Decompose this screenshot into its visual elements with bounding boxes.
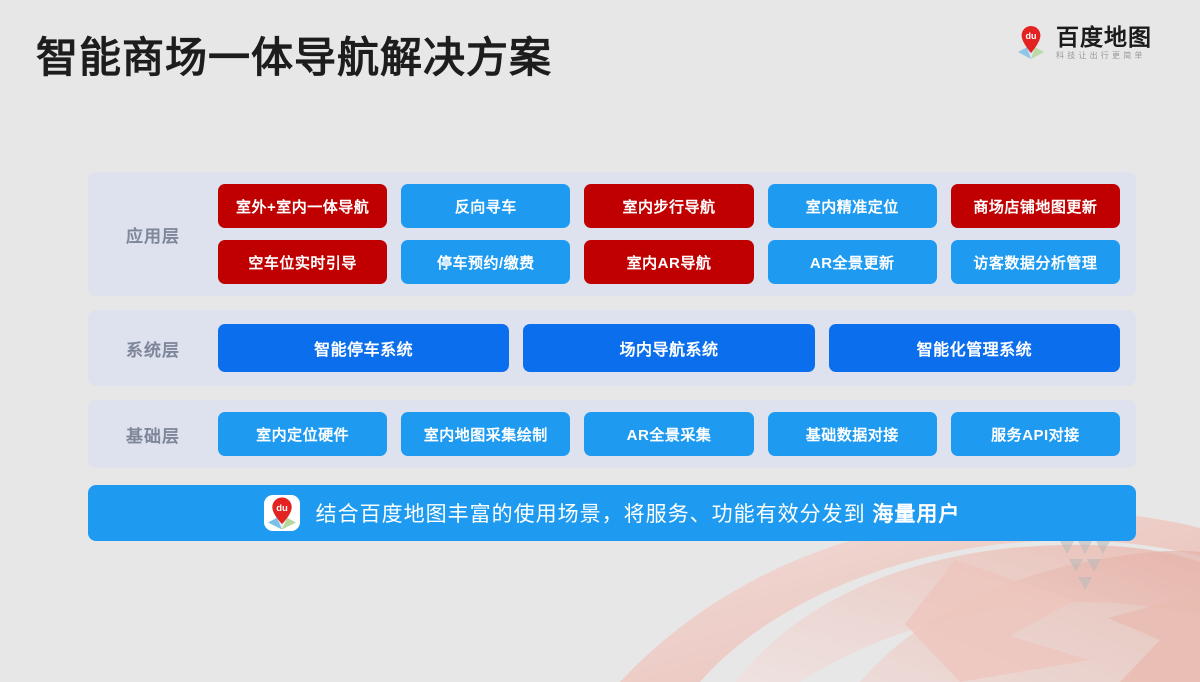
chip-empty-space-guidance[interactable]: 空车位实时引导 [218,240,387,284]
chip-mall-shop-map-update[interactable]: 商场店铺地图更新 [951,184,1120,228]
layer-label-application: 应用层 [88,222,218,247]
layer-application: 应用层 室外+室内一体导航 反向寻车 室内步行导航 室内精准定位 商场店铺地图更… [88,172,1136,296]
layer-row: 智能停车系统 场内导航系统 智能化管理系统 [218,324,1120,372]
layer-row: 空车位实时引导 停车预约/缴费 室内AR导航 AR全景更新 访客数据分析管理 [218,240,1120,284]
baidu-map-app-icon: du [264,495,300,531]
baidu-map-pin-icon: du [1015,25,1047,61]
chip-indoor-map-survey[interactable]: 室内地图采集绘制 [401,412,570,456]
slide-header: 智能商场一体导航解决方案 du 百度地图 科技让出行更简单 [0,0,1200,110]
chip-service-api-integration[interactable]: 服务API对接 [951,412,1120,456]
chip-in-venue-nav-system[interactable]: 场内导航系统 [523,324,814,372]
brand-name: 百度地图 [1056,26,1152,49]
architecture-stack: 应用层 室外+室内一体导航 反向寻车 室内步行导航 室内精准定位 商场店铺地图更… [88,172,1136,468]
page-title: 智能商场一体导航解决方案 [36,24,552,85]
layer-label-base: 基础层 [88,422,218,447]
chip-base-data-integration[interactable]: 基础数据对接 [768,412,937,456]
chip-visitor-data-analytics[interactable]: 访客数据分析管理 [951,240,1120,284]
banner-text: 结合百度地图丰富的使用场景，将服务、功能有效分发到 海量用户 [316,498,961,528]
chip-intelligent-mgmt-system[interactable]: 智能化管理系统 [829,324,1120,372]
banner-text-prefix: 结合百度地图丰富的使用场景，将服务、功能有效分发到 [316,503,873,526]
chip-indoor-ar-nav[interactable]: 室内AR导航 [584,240,753,284]
chip-ar-panorama-update[interactable]: AR全景更新 [768,240,937,284]
svg-text:du: du [1026,31,1037,41]
value-proposition-banner: du 结合百度地图丰富的使用场景，将服务、功能有效分发到 海量用户 [88,485,1136,541]
layer-base: 基础层 室内定位硬件 室内地图采集绘制 AR全景采集 基础数据对接 服务API对… [88,400,1136,468]
layer-rows-base: 室内定位硬件 室内地图采集绘制 AR全景采集 基础数据对接 服务API对接 [218,412,1120,456]
svg-text:du: du [276,503,288,514]
layer-rows-system: 智能停车系统 场内导航系统 智能化管理系统 [218,324,1120,372]
brand-tagline: 科技让出行更简单 [1056,52,1152,60]
chip-indoor-precise-locate[interactable]: 室内精准定位 [768,184,937,228]
chip-outdoor-indoor-nav[interactable]: 室外+室内一体导航 [218,184,387,228]
chip-reverse-car-finding[interactable]: 反向寻车 [401,184,570,228]
layer-row: 室内定位硬件 室内地图采集绘制 AR全景采集 基础数据对接 服务API对接 [218,412,1120,456]
chip-smart-parking-system[interactable]: 智能停车系统 [218,324,509,372]
layer-label-system: 系统层 [88,336,218,361]
layer-rows-application: 室外+室内一体导航 反向寻车 室内步行导航 室内精准定位 商场店铺地图更新 空车… [218,184,1120,284]
banner-text-emphasis: 海量用户 [872,503,960,526]
brand-logo: du 百度地图 科技让出行更简单 [1015,25,1152,61]
chip-parking-booking-payment[interactable]: 停车预约/缴费 [401,240,570,284]
layer-row: 室外+室内一体导航 反向寻车 室内步行导航 室内精准定位 商场店铺地图更新 [218,184,1120,228]
brand-text-block: 百度地图 科技让出行更简单 [1056,26,1152,60]
triangle-pattern-decoration [1058,539,1124,606]
chip-indoor-walking-nav[interactable]: 室内步行导航 [584,184,753,228]
slide: 智能商场一体导航解决方案 du 百度地图 科技让出行更简单 应用层 [0,0,1200,682]
chip-indoor-locating-hardware[interactable]: 室内定位硬件 [218,412,387,456]
chip-ar-panorama-capture[interactable]: AR全景采集 [584,412,753,456]
layer-system: 系统层 智能停车系统 场内导航系统 智能化管理系统 [88,310,1136,386]
